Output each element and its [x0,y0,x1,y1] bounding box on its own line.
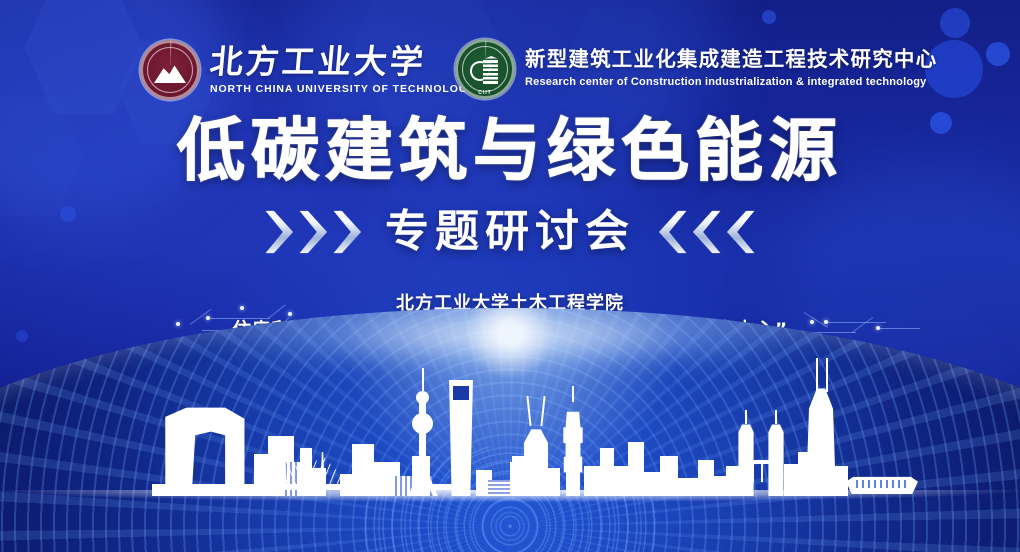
building-antenna [540,396,545,426]
poster-subtitle: 专题研讨会 [385,210,635,254]
ncut-name-cn: 北方工业大学 [209,45,478,78]
poster-subtitle-row: 专题研讨会 [0,208,1020,256]
chevron-left-icon [725,208,757,256]
logo-ncut: 北方工业大学 NORTH CHINA UNIVERSITY OF TECHNOL… [140,40,476,100]
building-block [834,466,848,496]
ciit-abbreviation: CIIT [455,90,515,96]
poster-header: 北方工业大学 NORTH CHINA UNIVERSITY OF TECHNOL… [0,34,1020,106]
petronas-skybridge-support [752,460,772,482]
building-spire [816,358,818,392]
building-block [546,468,560,496]
chevron-left-icon [657,208,689,256]
building-petronas-spire [745,410,747,424]
ncut-name-block: 北方工业大学 NORTH CHINA UNIVERSITY OF TECHNOL… [210,45,476,95]
building-shanghai-wfc-aperture [453,386,469,400]
building-taipei-101 [562,398,584,496]
ciit-name-block: 新型建筑工业化集成建造工程技术研究中心 Research center of C… [525,50,937,88]
building-petronas-right [766,420,786,496]
chevron-group-right [657,208,757,256]
chevron-right-icon [263,208,295,256]
chevron-right-icon [297,208,329,256]
building-block [584,466,600,496]
tower-oriental-pearl-spire [422,368,424,396]
building-taipei-101-spire [572,386,574,402]
building-block [798,452,810,496]
building-block [512,456,528,496]
building-block [784,464,798,496]
logo-ciit: CIIT 新型建筑工业化集成建造工程技术研究中心 Research center… [455,39,937,99]
bokeh-dot [762,10,776,24]
building-emblem-icon [483,56,498,84]
chevron-group-left [263,208,363,256]
building-antenna [526,396,531,426]
building-spire [826,358,828,392]
ciit-seal-icon: CIIT [455,39,515,99]
building-cctv-headquarters [160,404,248,496]
tower-oriental-pearl-sphere [412,413,433,434]
chevron-right-icon [331,208,363,256]
ciit-name-en: Research center of Construction industri… [525,77,937,88]
conference-poster: 北方工业大学 NORTH CHINA UNIVERSITY OF TECHNOL… [0,0,1020,552]
chevron-left-icon [691,208,723,256]
city-skyline-silhouette [0,336,1020,496]
ncut-seal-icon [140,40,200,100]
ciit-name-cn: 新型建筑工业化集成建造工程技术研究中心 [525,50,937,71]
building-petronas-spire [775,410,777,424]
ship-deck-windows [852,480,910,488]
ncut-name-en: NORTH CHINA UNIVERSITY OF TECHNOLOGY [210,84,476,95]
poster-main-title: 低碳建筑与绿色能源 [0,118,1020,186]
building-block [352,444,374,496]
building-cctv-base [152,484,256,496]
seal-inner-ring [147,47,193,93]
building-block [726,466,740,496]
building-tall-spire-tower [806,384,836,496]
